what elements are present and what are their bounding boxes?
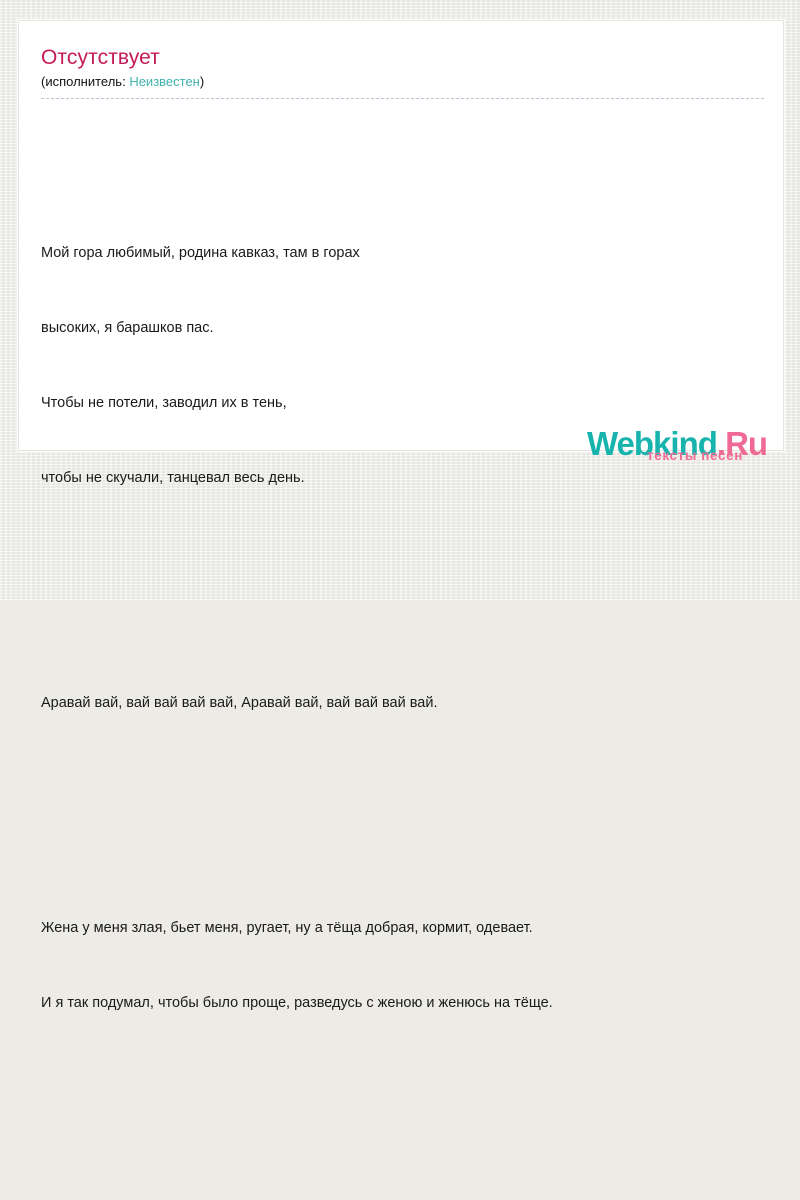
artist-label: (исполнитель: — [41, 74, 126, 89]
song-lyrics-card: Отсутствует (исполнитель: Неизвестен) Мо… — [18, 20, 784, 451]
artist-link[interactable]: Неизвестен — [129, 74, 200, 89]
lyrics-stanza: Аравай вай, вай вай вай вай, Аравай вай,… — [41, 641, 761, 766]
lyrics-stanza: Аравай вай, вай вай вай вай, Аравай вай,… — [41, 1166, 761, 1200]
lyric-line: чтобы не скучали, танцевал весь день. — [41, 466, 761, 491]
artist-line: (исполнитель: Неизвестен) — [41, 73, 764, 99]
lyric-line: Аравай вай, вай вай вай вай, Аравай вай,… — [41, 691, 761, 716]
lyric-line: Мой гора любимый, родина кавказ, там в г… — [41, 241, 761, 266]
logo-tagline: тексты песен — [647, 448, 743, 464]
artist-suffix: ) — [200, 74, 204, 89]
site-logo[interactable]: Webkind.Ru тексты песен — [587, 425, 787, 469]
lyric-line: И я так подумал, чтобы было проще, разве… — [41, 991, 761, 1016]
lyrics-stanza: Жена у меня злая, бьет меня, ругает, ну … — [41, 866, 761, 1066]
page-title: Отсутствует — [41, 45, 761, 71]
lyrics-stanza: Мой гора любимый, родина кавказ, там в г… — [41, 191, 761, 541]
lyric-line: высоких, я барашков пас. — [41, 316, 761, 341]
lyric-line: Чтобы не потели, заводил их в тень, — [41, 391, 761, 416]
card-content: Отсутствует (исполнитель: Неизвестен) Мо… — [19, 21, 783, 1200]
lyrics-body: Мой гора любимый, родина кавказ, там в г… — [41, 116, 761, 1200]
lyric-line: Жена у меня злая, бьет меня, ругает, ну … — [41, 916, 761, 941]
